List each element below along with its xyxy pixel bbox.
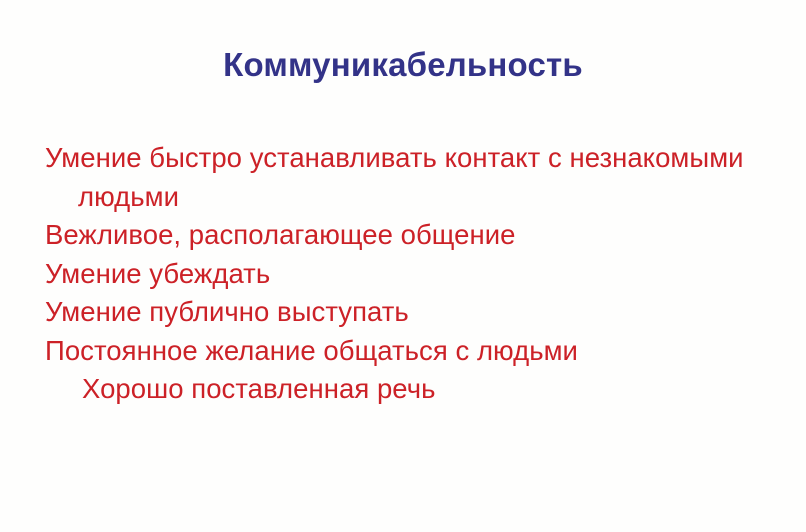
body-line: Постоянное желание общаться с людьми [45, 332, 775, 371]
body-line: Умение убеждать [45, 255, 775, 294]
body-line: Вежливое, располагающее общение [45, 216, 775, 255]
body-line: Умение быстро устанавливать контакт с не… [45, 139, 775, 178]
presentation-slide: Коммуникабельность Умение быстро устанав… [0, 0, 806, 532]
body-line-continuation: Хорошо поставленная речь [45, 370, 775, 409]
slide-title: Коммуникабельность [0, 44, 806, 86]
slide-body-text-block: Умение быстро устанавливать контакт с не… [45, 139, 775, 409]
body-line-continuation: людьми [45, 178, 775, 217]
body-line: Умение публично выступать [45, 293, 775, 332]
